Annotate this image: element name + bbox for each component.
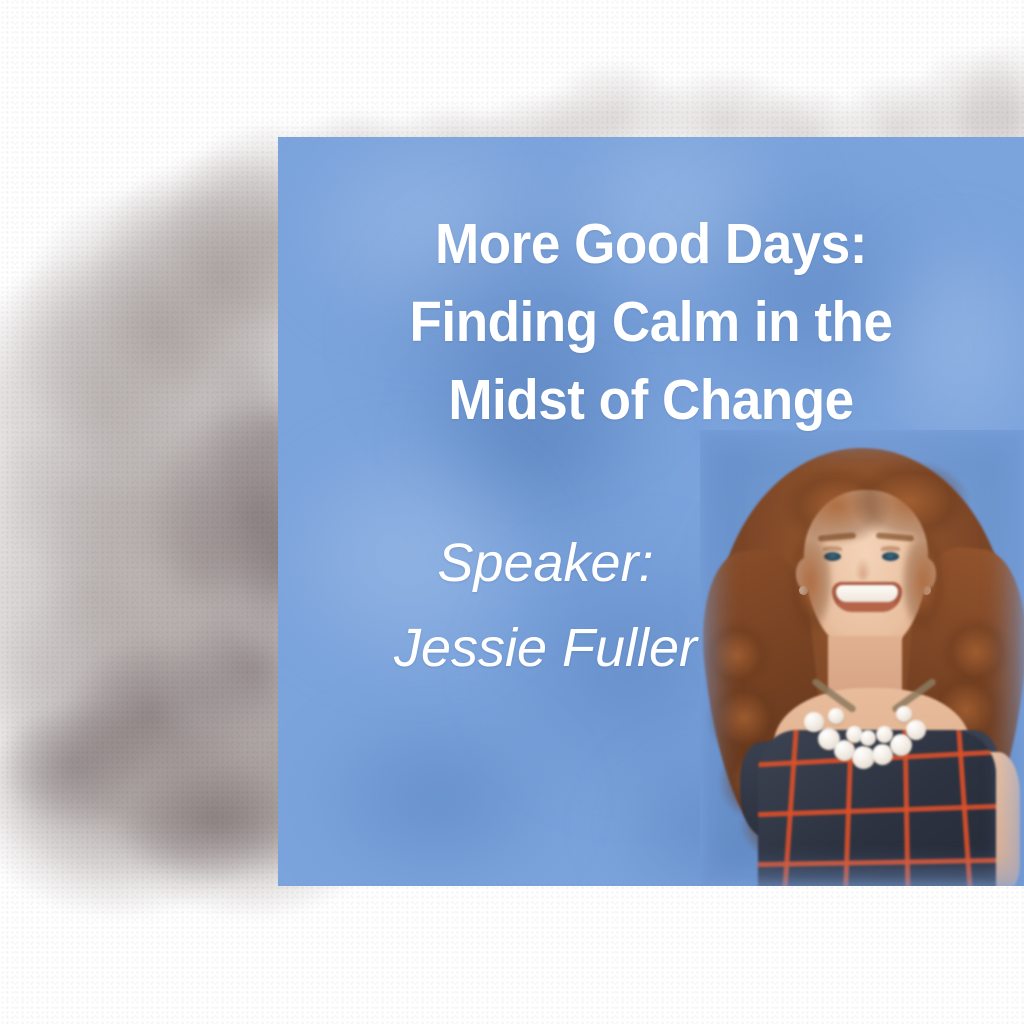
page-title: More Good Days: Finding Calm in the Mids…: [304, 205, 998, 439]
speaker-name: Jessie Fuller: [278, 606, 813, 691]
title-line-3: Midst of Change: [304, 361, 998, 439]
title-line-2: Finding Calm in the: [304, 283, 998, 361]
speaker-block: Speaker: Jessie Fuller: [278, 521, 813, 691]
slide-canvas: More Good Days: Finding Calm in the Mids…: [0, 0, 1024, 1024]
speaker-label: Speaker:: [278, 521, 813, 606]
title-line-1: More Good Days:: [304, 205, 998, 283]
